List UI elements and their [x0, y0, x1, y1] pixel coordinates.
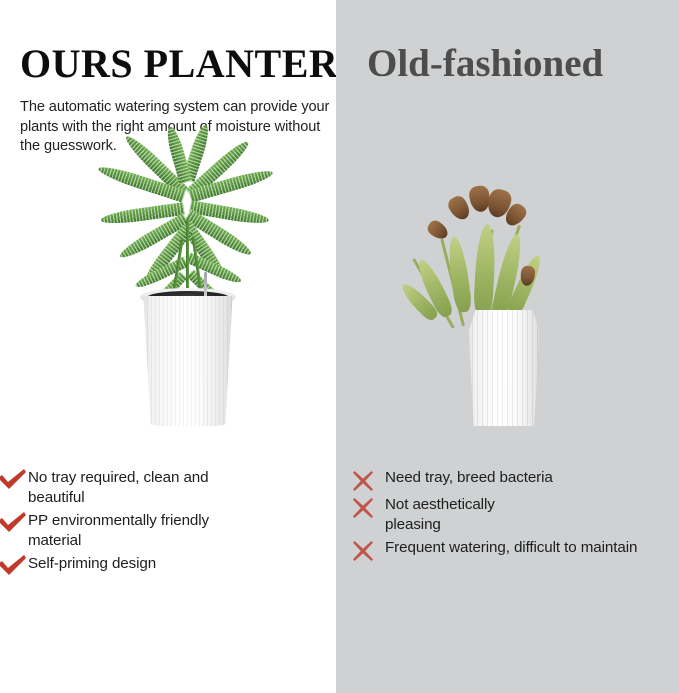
list-item-label: Frequent watering, difficult to maintain — [385, 538, 643, 558]
list-item: No tray required, clean and beautiful — [0, 468, 300, 508]
list-item-label: PP environmentally friendly material — [28, 511, 266, 551]
drawbacks-list: Need tray, breed bacteria Not aesthetica… — [352, 468, 652, 565]
white-ribbed-planter — [139, 296, 237, 426]
page-title-right: Old-fashioned — [367, 44, 603, 83]
list-item-label: No tray required, clean and beautiful — [28, 468, 266, 508]
product-image-ours-planter — [0, 160, 336, 435]
list-item: Frequent watering, difficult to maintain — [352, 538, 652, 562]
list-item: PP environmentally friendly material — [0, 511, 300, 551]
benefits-list: No tray required, clean and beautiful PP… — [0, 468, 300, 580]
list-item: Not aesthetically pleasing — [352, 495, 652, 535]
list-item: Need tray, breed bacteria — [352, 468, 652, 492]
water-level-indicator — [204, 272, 207, 298]
panel-old-fashioned: Old-fashioned — [336, 0, 679, 693]
product-image-old-fashioned — [336, 180, 679, 435]
check-icon — [0, 555, 28, 577]
list-item-label: Not aesthetically pleasing — [385, 495, 535, 535]
list-item-label: Self-priming design — [28, 554, 266, 574]
cross-icon — [352, 540, 374, 562]
white-fluted-vase — [462, 310, 546, 426]
wilted-bloom — [425, 218, 451, 242]
comparison-infographic: OURS PLANTER The automatic watering syst… — [0, 0, 679, 693]
panel-ours-planter: OURS PLANTER The automatic watering syst… — [0, 0, 336, 693]
page-title-left: OURS PLANTER — [20, 44, 336, 84]
list-item-label: Need tray, breed bacteria — [385, 468, 643, 488]
list-item: Self-priming design — [0, 554, 300, 577]
check-icon — [0, 512, 28, 534]
check-icon — [0, 469, 28, 491]
cross-icon — [352, 470, 374, 492]
cross-icon — [352, 497, 374, 519]
